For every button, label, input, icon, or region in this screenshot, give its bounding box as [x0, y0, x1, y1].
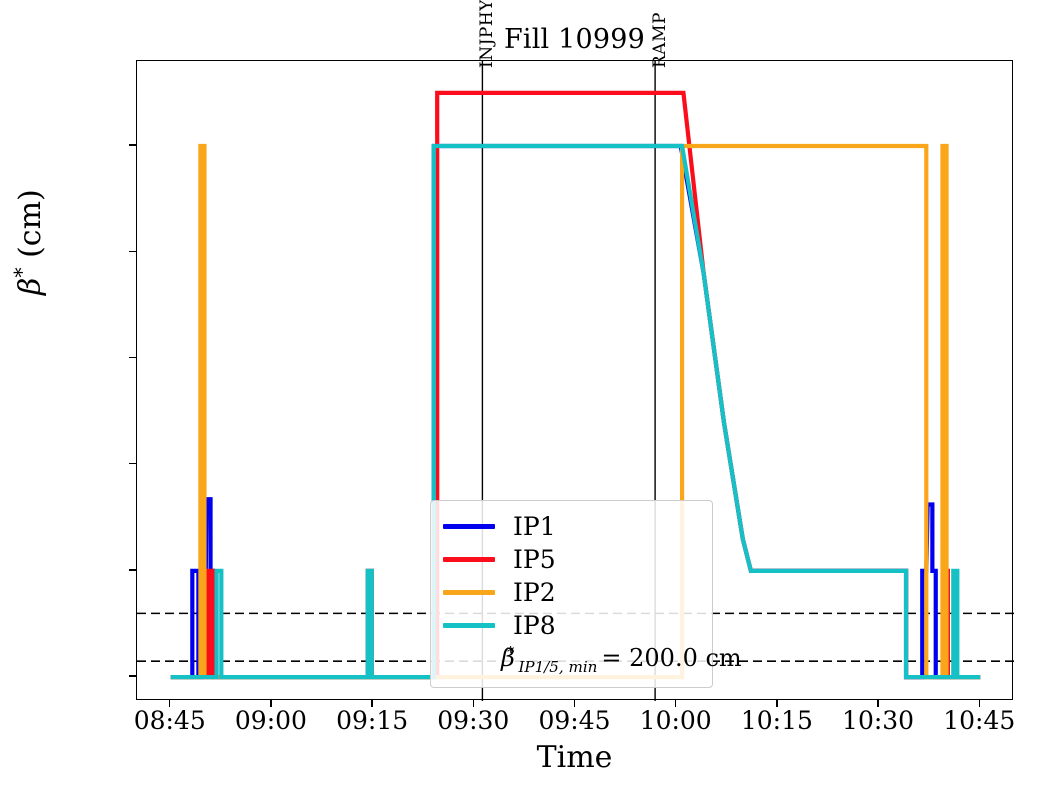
chart-title: Fill 10999	[136, 24, 1013, 55]
legend-item-ip5[interactable]: IP5	[443, 544, 556, 574]
legend-value: = 200.0 cm	[601, 644, 741, 672]
x-tick-label: 08:45	[134, 706, 206, 735]
legend-label: IP8	[513, 611, 556, 640]
legend-item-ip2[interactable]: IP2	[443, 577, 556, 607]
x-tick-label: 09:15	[336, 706, 408, 735]
x-tick-mark	[776, 700, 777, 707]
y-tick-mark	[129, 251, 136, 252]
legend-color-swatch	[443, 557, 495, 562]
event-marker-label: INJPHYS	[477, 0, 497, 68]
x-tick-mark	[169, 700, 170, 707]
y-tick-mark	[129, 357, 136, 358]
y-axis-unit: (cm)	[13, 189, 48, 258]
legend-item-ip8[interactable]: IP8	[443, 610, 556, 640]
chart-figure: Fill 10999 β* (cm) Time 0200400600800100…	[0, 0, 1040, 800]
legend-color-swatch	[443, 590, 495, 595]
y-tick-mark	[129, 675, 136, 676]
legend-label: IP2	[513, 578, 556, 607]
x-tick-mark	[979, 700, 980, 707]
event-marker-label: RAMP	[650, 12, 670, 68]
y-tick-mark	[129, 569, 136, 570]
legend-annotation: β*IP1/5, min= 200.0 cm	[501, 643, 742, 676]
legend-item-ip1[interactable]: IP1	[443, 511, 556, 541]
y-tick-mark	[129, 463, 136, 464]
x-tick-label: 10:15	[741, 706, 813, 735]
x-tick-label: 09:45	[538, 706, 610, 735]
x-tick-mark	[371, 700, 372, 707]
x-tick-label: 10:30	[842, 706, 914, 735]
y-axis-star: *	[10, 267, 34, 277]
y-axis-label: β* (cm)	[10, 189, 48, 295]
x-tick-label: 10:00	[640, 706, 712, 735]
chart-legend: IP1IP5IP2IP8 β*IP1/5, min= 200.0 cm	[430, 500, 713, 688]
legend-superscript: *	[507, 643, 515, 661]
x-tick-mark	[675, 700, 676, 707]
y-tick-mark	[129, 144, 136, 145]
legend-label: IP1	[513, 512, 556, 541]
x-tick-mark	[574, 700, 575, 707]
y-axis-beta-symbol: β	[13, 278, 48, 295]
x-tick-label: 09:00	[235, 706, 307, 735]
x-axis-label: Time	[136, 740, 1013, 775]
legend-label: IP5	[513, 545, 556, 574]
legend-color-swatch	[443, 524, 495, 529]
legend-subscript: IP1/5, min	[518, 658, 597, 676]
x-tick-label: 10:45	[943, 706, 1015, 735]
x-tick-label: 09:30	[437, 706, 509, 735]
legend-color-swatch	[443, 623, 495, 628]
x-tick-mark	[270, 700, 271, 707]
x-tick-mark	[877, 700, 878, 707]
x-tick-mark	[473, 700, 474, 707]
